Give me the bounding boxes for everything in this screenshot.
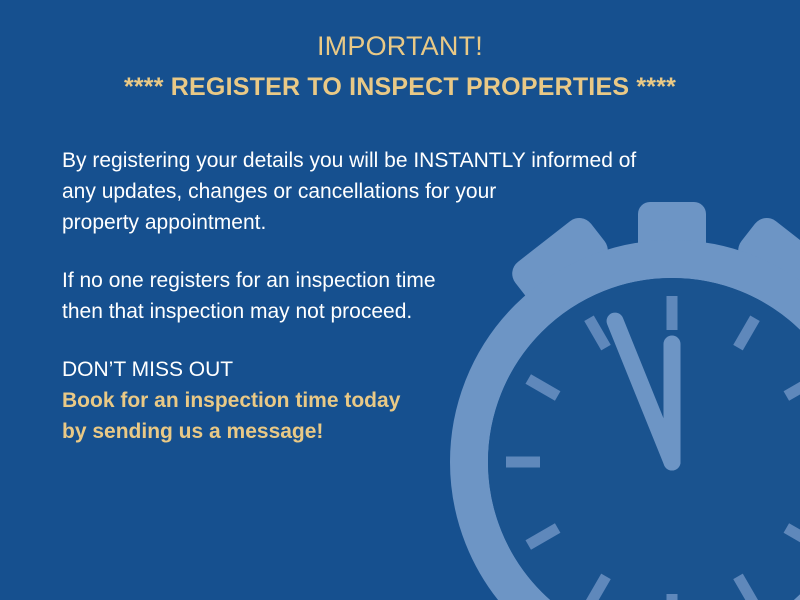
paragraph1-line1: By registering your details you will be … bbox=[62, 145, 722, 176]
headline-register-to-inspect: **** REGISTER TO INSPECT PROPERTIES **** bbox=[0, 70, 800, 104]
paragraph2-line1: If no one registers for an inspection ti… bbox=[62, 265, 722, 296]
cta-send-message: by sending us a message! bbox=[62, 416, 722, 447]
headline-important: IMPORTANT! bbox=[0, 28, 800, 64]
headline-block: IMPORTANT! **** REGISTER TO INSPECT PROP… bbox=[0, 28, 800, 104]
paragraph-spacer-2 bbox=[62, 327, 722, 354]
paragraph1-line3: property appointment. bbox=[62, 207, 722, 238]
paragraph-spacer-1 bbox=[62, 238, 722, 265]
paragraph-no-registration-warning: If no one registers for an inspection ti… bbox=[62, 265, 722, 327]
paragraph2-line2: then that inspection may not proceed. bbox=[62, 296, 722, 327]
slide-text-content: IMPORTANT! **** REGISTER TO INSPECT PROP… bbox=[0, 0, 800, 600]
paragraph-registering-details: By registering your details you will be … bbox=[62, 145, 722, 238]
cta-book-inspection: Book for an inspection time today bbox=[62, 385, 722, 416]
paragraph1-line2: any updates, changes or cancellations fo… bbox=[62, 176, 722, 207]
cta-dont-miss-out: DON’T MISS OUT bbox=[62, 354, 722, 385]
body-block: By registering your details you will be … bbox=[62, 145, 722, 447]
call-to-action-block: DON’T MISS OUT Book for an inspection ti… bbox=[62, 354, 722, 447]
slide-canvas: IMPORTANT! **** REGISTER TO INSPECT PROP… bbox=[0, 0, 800, 600]
